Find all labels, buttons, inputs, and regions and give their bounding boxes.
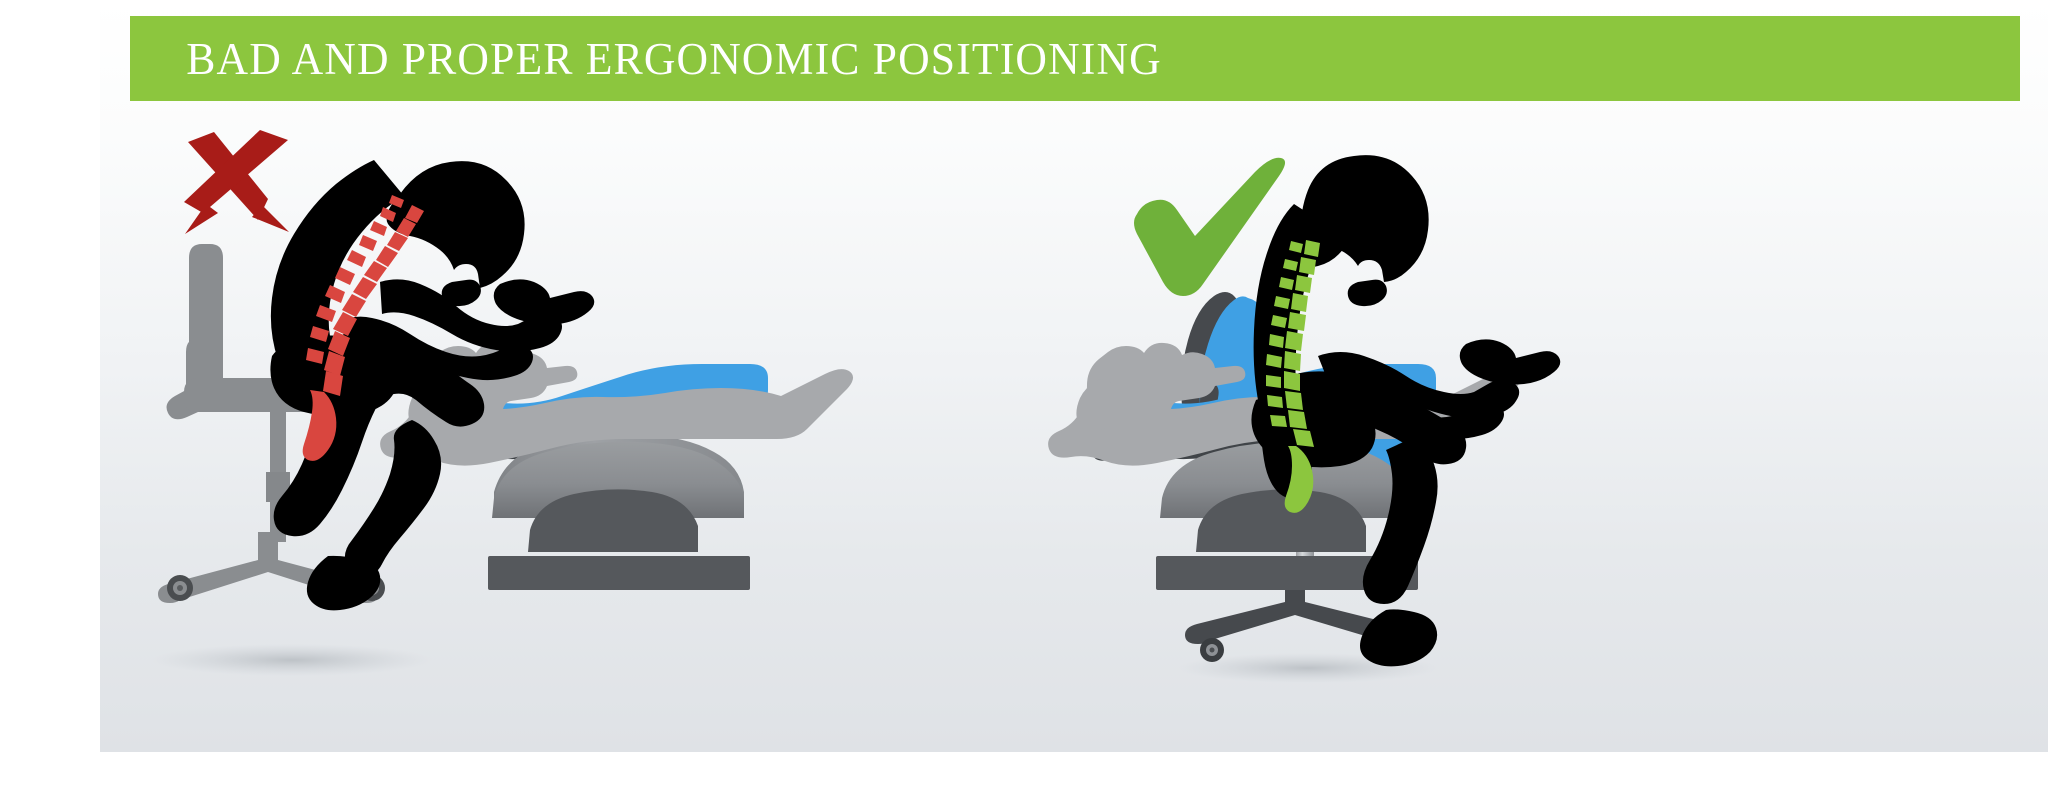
bad-posture-panel xyxy=(152,127,853,676)
illustration-area xyxy=(0,0,2048,796)
infographic-poster: BAD AND PROPER ERGONOMIC POSITIONING xyxy=(0,0,2048,796)
chair-floor-shadow xyxy=(152,644,432,676)
therapist-chin xyxy=(1348,280,1387,307)
therapist-hands xyxy=(494,279,595,324)
good-chair-caster-left xyxy=(1200,638,1224,662)
table-foot-plate xyxy=(488,556,750,590)
therapist-foot xyxy=(1360,609,1437,666)
good-posture-panel xyxy=(1048,155,1560,683)
ergonomic-illustration-svg xyxy=(0,0,2048,796)
cross-mark-icon xyxy=(184,127,294,243)
chair-gas-cylinder xyxy=(270,410,286,478)
therapist-hands xyxy=(1460,339,1561,384)
chair-caster-left xyxy=(167,575,193,601)
